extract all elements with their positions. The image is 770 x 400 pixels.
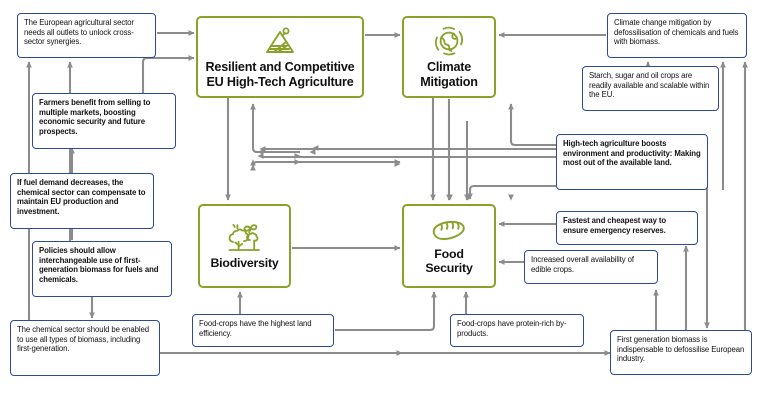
node-food-security[interactable]: Food Security [402, 204, 496, 288]
bread-loaf-icon [427, 217, 471, 245]
wire-food-to-climate [511, 104, 556, 145]
wire-farmers-to-agriculture [143, 58, 194, 98]
tip-first-generation-biomass[interactable]: First generation biomass is indispensabl… [610, 330, 752, 375]
tip-starch-sugar-oil-crops[interactable]: Starch, sugar and oil crops are readily … [582, 66, 719, 111]
tip-climate-change-mitigation[interactable]: Climate change mitigation by defossilisa… [607, 13, 747, 58]
node-climate[interactable]: Climate Mitigation [402, 16, 496, 98]
tip-fuel-demand-decreases[interactable]: If fuel demand decreases, the chemical s… [10, 173, 154, 229]
tip-increased-edible-crops[interactable]: Increased overall availability of edible… [524, 250, 658, 284]
wheat-field-icon [259, 25, 301, 57]
tip-european-agricultural-sector[interactable]: The European agricultural sector needs a… [17, 13, 156, 58]
tip-fastest-cheapest-reserves[interactable]: Fastest and cheapest way to ensure emerg… [556, 211, 698, 245]
tip-policies-interchangeable-use[interactable]: Policies should allow interchangeable us… [32, 241, 172, 297]
tip-high-tech-agriculture-boosts[interactable]: High-tech agriculture boosts environment… [556, 134, 708, 190]
node-biodiversity[interactable]: Biodiversity [198, 204, 291, 288]
node-agriculture-label: Resilient and Competitive EU High-Tech A… [206, 60, 355, 88]
globe-climate-icon [432, 25, 466, 57]
tip-food-crops-land-efficiency[interactable]: Food-crops have the highest land efficie… [192, 314, 334, 347]
tip-chemical-sector-all-biomass[interactable]: The chemical sector should be enabled to… [10, 320, 160, 376]
node-agriculture[interactable]: Resilient and Competitive EU High-Tech A… [196, 16, 364, 98]
tip-food-crops-protein-rich[interactable]: Food-crops have protein-rich by-products… [450, 314, 584, 347]
node-food-security-label: Food Security [425, 248, 472, 276]
tip-farmers-benefit[interactable]: Farmers benefit from selling to multiple… [32, 93, 176, 149]
wire-biodiversity-elbow-to-food [253, 162, 400, 170]
node-climate-label: Climate Mitigation [420, 60, 477, 88]
wire-biodiversity-up-to-agriculture [253, 104, 300, 152]
wire-hightech-to-food [470, 186, 556, 199]
wire-landeff-to-food [335, 292, 434, 330]
node-biodiversity-label: Biodiversity [211, 257, 279, 271]
tree-butterfly-icon [225, 222, 265, 254]
diagram-canvas: Resilient and Competitive EU High-Tech A… [0, 0, 770, 400]
